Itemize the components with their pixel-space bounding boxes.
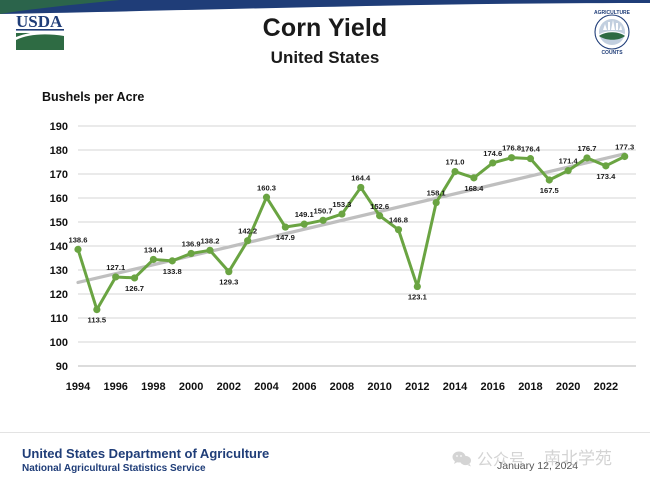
data-point-2021: [583, 154, 590, 161]
data-point-1997: [131, 274, 138, 281]
data-label-2000: 136.9: [182, 239, 201, 248]
x-tick-2022: 2022: [594, 381, 618, 393]
data-point-2006: [301, 221, 308, 228]
data-point-2016: [489, 159, 496, 166]
y-tick-90: 90: [56, 361, 68, 373]
x-tick-2002: 2002: [217, 381, 241, 393]
y-axis-tick-labels: 19018017016015014013012011010090: [50, 121, 68, 373]
data-point-2011: [395, 226, 402, 233]
data-label-1999: 133.8: [163, 267, 182, 276]
x-tick-1994: 1994: [66, 381, 91, 393]
footer-divider: [0, 432, 650, 433]
footer-service: National Agricultural Statistics Service: [22, 463, 206, 474]
corn-yield-line-chart: 19018017016015014013012011010090 138.611…: [0, 110, 650, 400]
data-point-2020: [565, 167, 572, 174]
y-tick-100: 100: [50, 337, 68, 349]
y-tick-190: 190: [50, 121, 68, 133]
header-banner: [0, 0, 650, 14]
data-point-2009: [357, 184, 364, 191]
data-point-2022: [602, 162, 609, 169]
x-tick-2010: 2010: [367, 381, 391, 393]
data-label-2021: 176.7: [577, 144, 596, 153]
x-tick-2014: 2014: [443, 381, 468, 393]
data-point-2002: [225, 268, 232, 275]
y-tick-140: 140: [50, 241, 68, 253]
data-label-2009: 164.4: [351, 173, 371, 182]
data-label-2002: 129.3: [219, 278, 238, 287]
data-point-2013: [433, 199, 440, 206]
data-point-2001: [206, 247, 213, 254]
data-point-2003: [244, 237, 251, 244]
y-tick-150: 150: [50, 217, 68, 229]
data-point-1996: [112, 273, 119, 280]
x-tick-1996: 1996: [103, 381, 127, 393]
data-label-2013: 158.1: [427, 189, 447, 198]
data-label-2010: 152.6: [370, 202, 389, 211]
x-tick-2000: 2000: [179, 381, 203, 393]
chart-svg: 19018017016015014013012011010090 138.611…: [0, 110, 650, 400]
data-label-2005: 147.9: [276, 233, 295, 242]
data-label-2015: 168.4: [464, 184, 484, 193]
data-point-1994: [74, 246, 81, 253]
wechat-icon: [452, 450, 472, 467]
x-tick-2012: 2012: [405, 381, 429, 393]
data-label-1994: 138.6: [68, 235, 87, 244]
data-label-2023: 177.3: [615, 142, 634, 151]
data-point-2015: [470, 174, 477, 181]
data-point-2018: [527, 155, 534, 162]
data-label-2003: 142.2: [238, 227, 257, 236]
data-point-2010: [376, 212, 383, 219]
footer-date: January 12, 2024: [497, 460, 578, 472]
data-point-1999: [169, 257, 176, 264]
data-label-2008: 153.3: [332, 200, 351, 209]
x-axis-tick-labels: 1994199619982000200220042006200820102012…: [66, 381, 618, 393]
data-label-2001: 138.2: [200, 236, 219, 245]
footer-organization: United States Department of Agriculture: [22, 446, 269, 461]
corn-yield-slide: USDA AGRICULTURE COUNTS Corn Yield Unite…: [0, 0, 650, 487]
page-subtitle: United States: [0, 48, 650, 68]
data-label-2011: 146.8: [389, 216, 408, 225]
data-label-2017: 176.8: [502, 144, 521, 153]
data-point-2012: [414, 283, 421, 290]
x-tick-2018: 2018: [518, 381, 542, 393]
data-label-2014: 171.0: [446, 158, 465, 167]
x-tick-2008: 2008: [330, 381, 354, 393]
x-tick-2016: 2016: [480, 381, 504, 393]
page-title: Corn Yield: [0, 14, 650, 43]
data-label-2016: 174.6: [483, 149, 502, 158]
y-tick-120: 120: [50, 289, 68, 301]
data-label-2007: 150.7: [314, 206, 333, 215]
data-point-2005: [282, 223, 289, 230]
x-tick-2004: 2004: [254, 381, 279, 393]
data-point-labels: 138.6113.5127.1126.7134.4133.8136.9138.2…: [68, 142, 634, 324]
data-point-1998: [150, 256, 157, 263]
data-point-2019: [546, 176, 553, 183]
data-point-2004: [263, 194, 270, 201]
x-tick-2006: 2006: [292, 381, 316, 393]
data-point-2000: [188, 250, 195, 257]
data-label-1997: 126.7: [125, 284, 144, 293]
y-tick-170: 170: [50, 169, 68, 181]
y-tick-180: 180: [50, 145, 68, 157]
y-tick-110: 110: [50, 313, 68, 325]
data-label-1998: 134.4: [144, 245, 164, 254]
data-point-2014: [451, 168, 458, 175]
data-point-1995: [93, 306, 100, 313]
data-label-2018: 176.4: [521, 145, 541, 154]
x-tick-2020: 2020: [556, 381, 580, 393]
data-label-2012: 123.1: [408, 293, 428, 302]
data-point-2008: [338, 210, 345, 217]
data-label-1996: 127.1: [106, 263, 126, 272]
data-point-2007: [319, 217, 326, 224]
data-label-2004: 160.3: [257, 183, 276, 192]
y-axis-caption: Bushels per Acre: [42, 90, 144, 104]
y-tick-130: 130: [50, 265, 68, 277]
data-label-2019: 167.5: [540, 186, 560, 195]
data-label-2022: 173.4: [596, 172, 616, 181]
data-point-2023: [621, 153, 628, 160]
data-label-1995: 113.5: [88, 316, 107, 325]
data-label-2006: 149.1: [295, 210, 315, 219]
x-tick-1998: 1998: [141, 381, 165, 393]
y-tick-160: 160: [50, 193, 68, 205]
data-label-2020: 171.4: [559, 157, 579, 166]
data-point-2017: [508, 154, 515, 161]
